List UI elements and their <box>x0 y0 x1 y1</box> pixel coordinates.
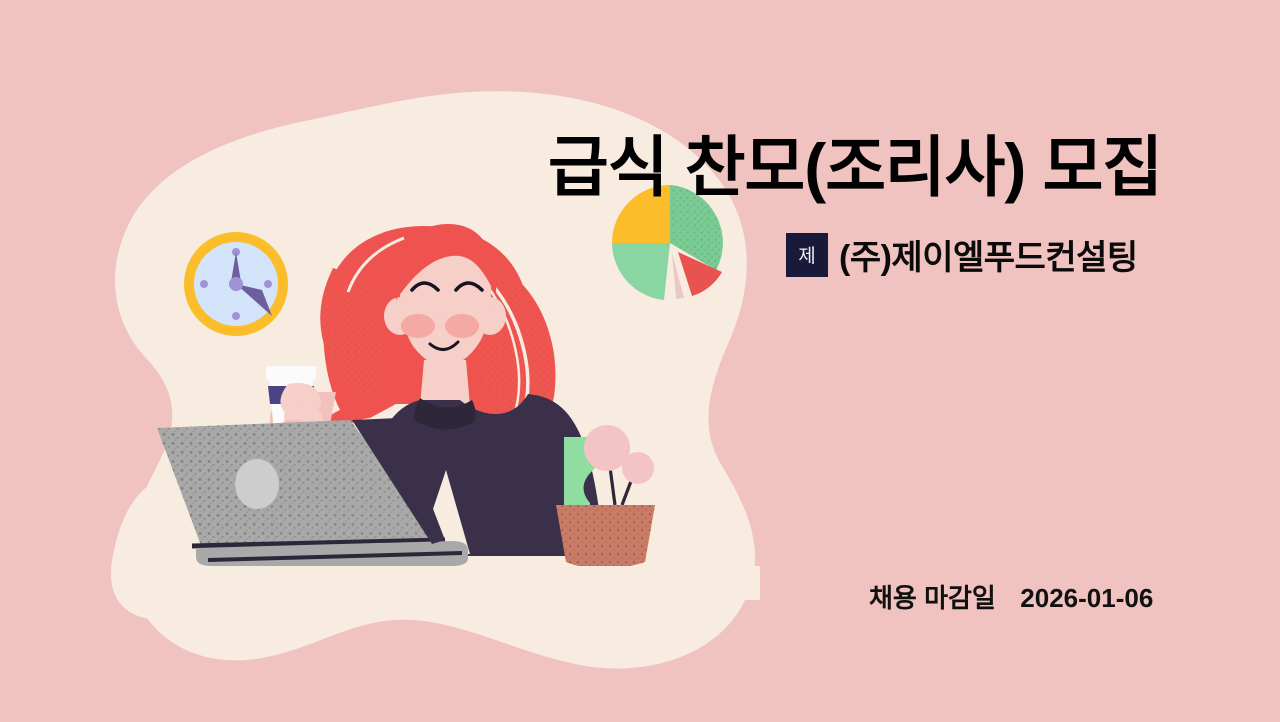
text-overlay: 급식 찬모(조리사) 모집 제 (주)제이엘푸드컨설팅 채용 마감일 2026-… <box>0 0 1280 722</box>
poster-canvas: 급식 찬모(조리사) 모집 제 (주)제이엘푸드컨설팅 채용 마감일 2026-… <box>0 0 1280 722</box>
page-title: 급식 찬모(조리사) 모집 <box>548 129 1188 207</box>
deadline-row: 채용 마감일 2026-01-06 <box>869 578 1153 615</box>
company-name: (주)제이엘푸드컨설팅 <box>839 230 1138 279</box>
deadline-date: 2026-01-06 <box>1020 583 1153 613</box>
deadline-label: 채용 마감일 <box>869 583 996 613</box>
company-row: 제 (주)제이엘푸드컨설팅 <box>786 230 1138 279</box>
company-logo-badge: 제 <box>786 233 828 277</box>
